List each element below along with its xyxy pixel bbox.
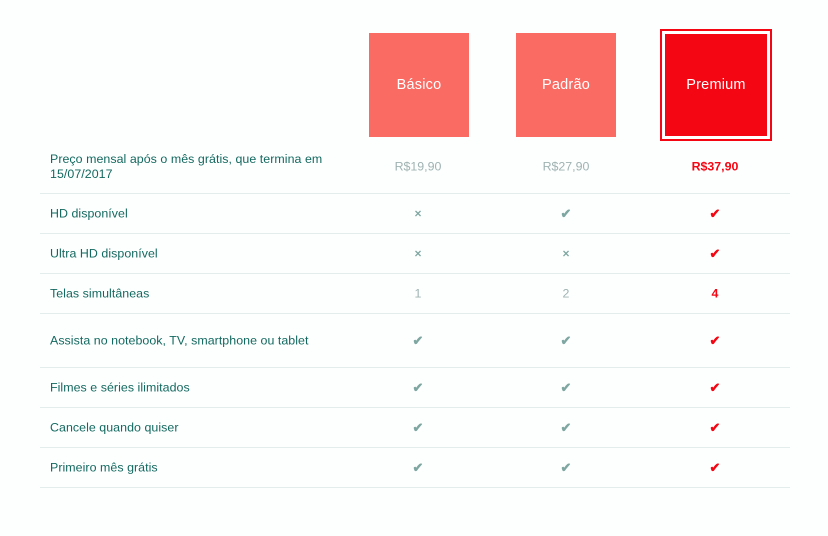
plan-name-premium: Premium xyxy=(686,78,745,93)
feature-value-cell: ✔ xyxy=(526,420,606,436)
check-icon: ✔ xyxy=(710,420,721,435)
numeric-value: 4 xyxy=(712,286,719,300)
plan-box-premium[interactable]: Premium xyxy=(660,29,772,141)
feature-value-cell: ✔ xyxy=(378,333,458,349)
feature-label: Telas simultâneas xyxy=(50,286,350,301)
check-icon: ✔ xyxy=(561,380,572,395)
check-icon: ✔ xyxy=(561,206,572,221)
numeric-value: 1 xyxy=(415,286,422,300)
price-value: R$19,90 xyxy=(395,159,442,173)
feature-value-cell: ✔ xyxy=(675,460,755,476)
check-icon: ✔ xyxy=(561,333,572,348)
feature-value-cell: ✔ xyxy=(526,206,606,222)
feature-value-cell: ✔ xyxy=(526,460,606,476)
check-icon: ✔ xyxy=(561,460,572,475)
feature-value-cell: × xyxy=(526,246,606,261)
feature-value-cell: × xyxy=(378,206,458,221)
table-row: Assista no notebook, TV, smartphone ou t… xyxy=(40,314,790,368)
plan-comparison-table: Básico Padrão Premium Preço mensal após … xyxy=(0,0,828,536)
table-row: Primeiro mês grátis✔✔✔ xyxy=(40,448,790,488)
table-row: Ultra HD disponível××✔ xyxy=(40,234,790,274)
cross-icon: × xyxy=(562,246,569,260)
feature-value-cell: 1 xyxy=(378,286,458,301)
feature-value-cell: ✔ xyxy=(378,380,458,396)
feature-value-cell: 4 xyxy=(675,286,755,301)
plan-box-basico[interactable]: Básico xyxy=(369,33,469,137)
feature-label: Primeiro mês grátis xyxy=(50,460,350,475)
check-icon: ✔ xyxy=(710,246,721,261)
feature-label: Assista no notebook, TV, smartphone ou t… xyxy=(50,333,350,348)
check-icon: ✔ xyxy=(413,380,424,395)
table-row: Telas simultâneas124 xyxy=(40,274,790,314)
check-icon: ✔ xyxy=(710,206,721,221)
cross-icon: × xyxy=(414,246,421,260)
feature-value-cell: R$19,90 xyxy=(378,159,458,174)
feature-label: Preço mensal após o mês grátis, que term… xyxy=(50,152,380,182)
feature-value-cell: ✔ xyxy=(675,246,755,262)
feature-value-cell: ✔ xyxy=(378,420,458,436)
check-icon: ✔ xyxy=(413,420,424,435)
feature-value-cell: R$27,90 xyxy=(526,159,606,174)
plan-name-basico: Básico xyxy=(397,78,442,93)
feature-value-cell: ✔ xyxy=(675,420,755,436)
feature-label: Ultra HD disponível xyxy=(50,246,350,261)
feature-value-cell: ✔ xyxy=(675,333,755,349)
numeric-value: 2 xyxy=(563,286,570,300)
feature-value-cell: ✔ xyxy=(378,460,458,476)
feature-value-cell: × xyxy=(378,246,458,261)
check-icon: ✔ xyxy=(413,460,424,475)
plan-header-row: Básico Padrão Premium xyxy=(0,0,828,140)
plan-box-padrao[interactable]: Padrão xyxy=(516,33,616,137)
check-icon: ✔ xyxy=(710,333,721,348)
check-icon: ✔ xyxy=(561,420,572,435)
plan-box-premium-inner: Premium xyxy=(665,34,767,136)
feature-value-cell: ✔ xyxy=(675,380,755,396)
table-row: Cancele quando quiser✔✔✔ xyxy=(40,408,790,448)
feature-label: HD disponível xyxy=(50,206,350,221)
feature-rows: Preço mensal após o mês grátis, que term… xyxy=(0,140,828,488)
price-value: R$27,90 xyxy=(543,159,590,173)
feature-value-cell: ✔ xyxy=(526,333,606,349)
feature-value-cell: ✔ xyxy=(675,206,755,222)
feature-label: Filmes e séries ilimitados xyxy=(50,380,350,395)
cross-icon: × xyxy=(414,206,421,220)
feature-value-cell: R$37,90 xyxy=(675,159,755,174)
table-row: Filmes e séries ilimitados✔✔✔ xyxy=(40,368,790,408)
check-icon: ✔ xyxy=(710,460,721,475)
feature-value-cell: ✔ xyxy=(526,380,606,396)
check-icon: ✔ xyxy=(413,333,424,348)
check-icon: ✔ xyxy=(710,380,721,395)
plan-name-padrao: Padrão xyxy=(542,78,590,93)
price-value: R$37,90 xyxy=(692,159,739,173)
feature-label: Cancele quando quiser xyxy=(50,420,350,435)
table-row: Preço mensal após o mês grátis, que term… xyxy=(40,140,790,194)
feature-value-cell: 2 xyxy=(526,286,606,301)
table-row: HD disponível×✔✔ xyxy=(40,194,790,234)
